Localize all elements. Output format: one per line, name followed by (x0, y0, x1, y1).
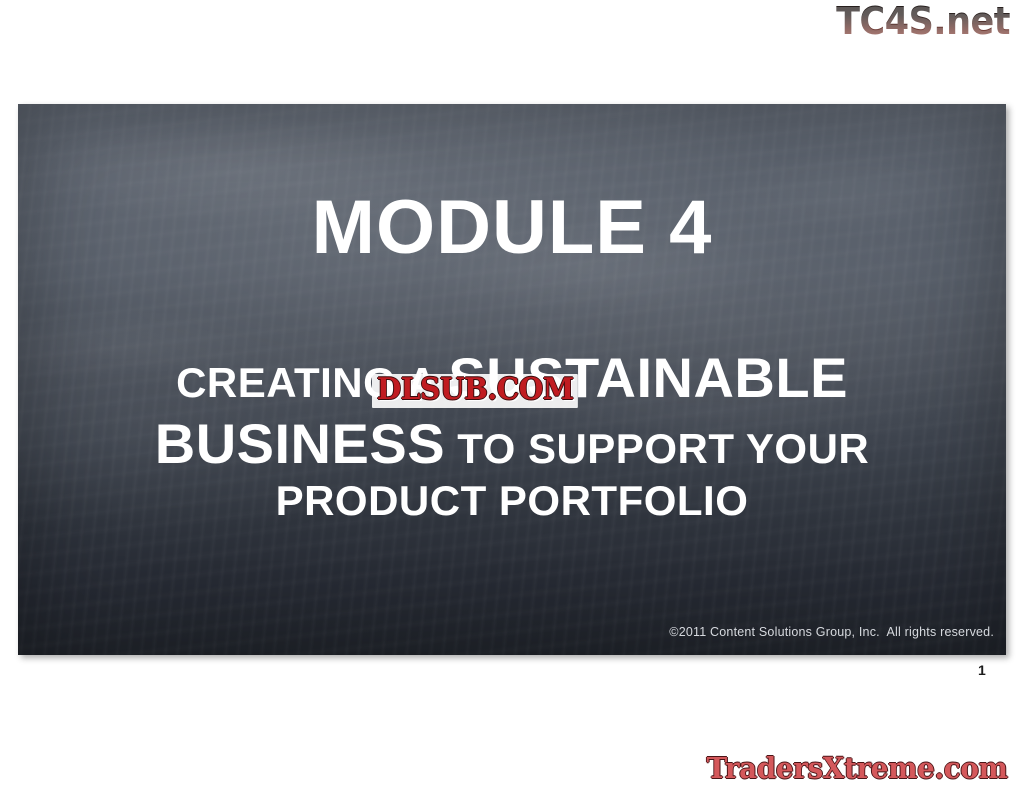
slide-title-support-suffix: TO SUPPORT YOUR (445, 425, 869, 472)
tradersxtreme-watermark: TradersXtreme.com (707, 753, 1008, 783)
page-number: 1 (978, 662, 986, 678)
tc4s-site-watermark: TC4S.net (836, 2, 1010, 40)
slide-copyright-notice: ©2011 Content Solutions Group, Inc. All … (669, 625, 994, 639)
slide-title-line-business: BUSINESS TO SUPPORT YOUR (18, 416, 1006, 472)
slide-title-business: BUSINESS (155, 412, 445, 475)
slide-title-module: MODULE 4 (18, 190, 1006, 266)
dlsub-overlay-watermark: DLSUB.COM (372, 374, 578, 408)
slide-title-block: MODULE 4 CREATING A SUSTAINABLE BUSINESS… (18, 190, 1006, 522)
slide-title-product-portfolio: PRODUCT PORTFOLIO (18, 480, 1006, 522)
